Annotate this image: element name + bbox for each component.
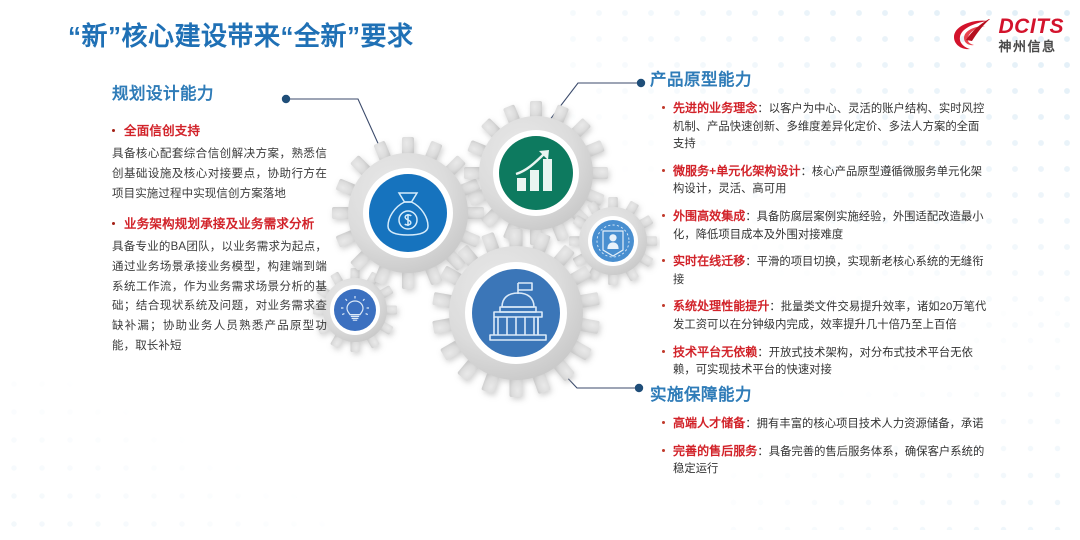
product-item-5-sep: ：: [757, 347, 768, 359]
product-item-5-term: 技术平台无依赖: [673, 345, 757, 359]
product-item-0-sep: ：: [757, 103, 768, 115]
brand-name-en: DCITS: [999, 16, 1065, 37]
bullet-dot-icon: [662, 304, 665, 307]
left-block-0-body: 具备核心配套综合信创解决方案，熟悉信创基础设施及核心对接要点，协助行方在项目实施…: [112, 145, 327, 204]
slide-canvas: “新”核心建设带来“全新”要求 DCITS 神州信息: [0, 0, 1080, 540]
page-title: “新”核心建设带来“全新”要求: [68, 16, 414, 53]
implementation-item-1: 完善的售后服务：具备完善的售后服务体系，确保客户系统的稳定运行: [662, 442, 990, 479]
bullet-dot-icon: [662, 106, 665, 109]
product-item-1-sep: ：: [801, 166, 812, 178]
product-item-4: 系统处理性能提升：批量类文件交易提升效率，诸如20万笔代发工资可以在分钟级内完成…: [662, 297, 990, 334]
dcits-swoosh-icon: [952, 17, 992, 53]
left-block-1: 业务架构规划承接及业务需求分析 具备专业的BA团队，以业务需求为起点，通过业务场…: [112, 215, 327, 357]
bullet-dot-icon: [662, 259, 665, 262]
left-block-0-title: 全面信创支持: [124, 122, 200, 141]
implementation-item-0: 高端人才储备：拥有丰富的核心项目技术人力资源储备，承诺: [662, 414, 990, 434]
left-block-1-body: 具备专业的BA团队，以业务需求为起点，通过业务场景承接业务模型，构建端到端系统工…: [112, 238, 327, 357]
product-item-3: 实时在线迁移：平滑的项目切换，实现新老核心系统的无缝衔接: [662, 252, 990, 289]
brand-name-cn: 神州信息: [999, 40, 1065, 53]
left-block-0: 全面信创支持 具备核心配套综合信创解决方案，熟悉信创基础设施及核心对接要点，协助…: [112, 122, 327, 205]
product-item-1-term: 微服务+单元化架构设计: [673, 164, 801, 178]
product-item-4-sep: ：: [769, 301, 780, 313]
product-item-5: 技术平台无依赖：开放式技术架构，对分布式技术平台无依赖，可实现技术平台的快速对接: [662, 343, 990, 380]
bullet-dot-icon: [112, 222, 115, 225]
brand-logo: DCITS 神州信息: [952, 16, 1065, 53]
bullet-dot-icon: [662, 214, 665, 217]
product-item-0-term: 先进的业务理念: [673, 101, 757, 115]
implementation-item-0-sep: ：: [745, 418, 756, 430]
gear-cluster-graphic: [300, 95, 660, 415]
left-column: 规划设计能力 全面信创支持 具备核心配套综合信创解决方案，熟悉信创基础设施及核心…: [112, 80, 327, 366]
product-item-2: 外围高效集成：具备防腐层案例实施经验，外围适配改造最小化，降低项目成本及外围对接…: [662, 207, 990, 244]
bullet-dot-icon: [112, 129, 115, 132]
implementation-item-1-term: 完善的售后服务: [673, 444, 757, 458]
product-item-2-term: 外围高效集成: [673, 209, 745, 223]
implementation-item-0-desc: 拥有丰富的核心项目技术人力资源储备，承诺: [757, 418, 984, 430]
right-section-implementation-guarantee: 实施保障能力 高端人才储备：拥有丰富的核心项目技术人力资源储备，承诺 完善的售后…: [650, 381, 990, 487]
left-section-heading: 规划设计能力: [112, 80, 327, 104]
product-item-0: 先进的业务理念：以客户为中心、灵活的账户结构、实时风控机制、产品快速创新、多维度…: [662, 99, 990, 154]
product-prototype-heading: 产品原型能力: [650, 66, 990, 90]
implementation-heading: 实施保障能力: [650, 381, 990, 405]
bullet-dot-icon: [662, 449, 665, 452]
implementation-item-0-term: 高端人才储备: [673, 416, 745, 430]
gear-money-bag: [332, 137, 484, 289]
background-dot-pattern-bottom-left: [0, 370, 330, 540]
product-item-1: 微服务+单元化架构设计：核心产品原型遵循微服务单元化架构设计，灵活、高可用: [662, 162, 990, 199]
right-section-product-prototype: 产品原型能力 先进的业务理念：以客户为中心、灵活的账户结构、实时风控机制、产品快…: [650, 66, 990, 388]
bullet-dot-icon: [662, 421, 665, 424]
bullet-dot-icon: [662, 350, 665, 353]
product-item-2-sep: ：: [745, 211, 756, 223]
product-item-4-term: 系统处理性能提升: [673, 299, 769, 313]
product-item-3-sep: ：: [745, 256, 756, 268]
implementation-item-1-sep: ：: [757, 446, 768, 458]
product-item-3-term: 实时在线迁移: [673, 254, 745, 268]
left-block-1-title: 业务架构规划承接及业务需求分析: [124, 215, 315, 234]
bullet-dot-icon: [662, 169, 665, 172]
